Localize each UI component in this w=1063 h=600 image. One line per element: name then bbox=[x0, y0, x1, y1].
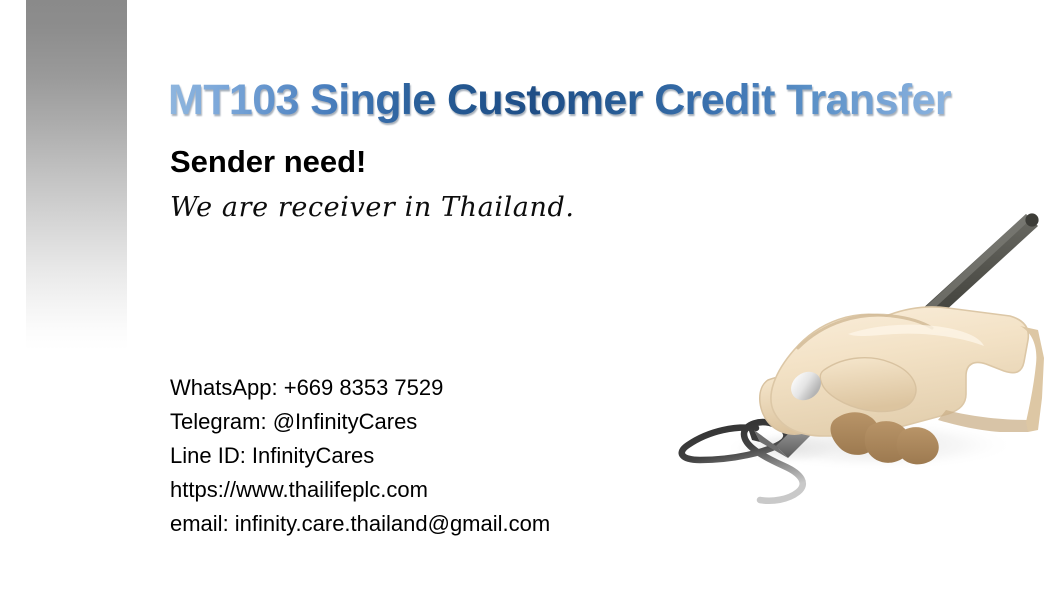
contact-line-email[interactable]: email: infinity.care.thailand@gmail.com bbox=[170, 507, 550, 541]
script-subtitle-text: We are receiver in Thailand. bbox=[170, 192, 575, 223]
contact-line-whatsapp: WhatsApp: +669 8353 7529 bbox=[170, 371, 550, 405]
headline-text: Sender need! bbox=[170, 144, 366, 180]
page-title: MT103 Single Customer Credit Transfer bbox=[168, 78, 951, 123]
contact-line-telegram: Telegram: @InfinityCares bbox=[170, 405, 550, 439]
pen-cap-top bbox=[1025, 213, 1038, 226]
contact-line-lineid: Line ID: InfinityCares bbox=[170, 439, 550, 473]
slide-canvas: MT103 Single Customer Credit Transfer Se… bbox=[0, 0, 1063, 600]
contact-line-website[interactable]: https://www.thailifeplc.com bbox=[170, 473, 550, 507]
left-gradient-bar bbox=[26, 0, 127, 350]
hand-writing-illustration bbox=[648, 198, 1050, 528]
contact-info-block: WhatsApp: +669 8353 7529 Telegram: @Infi… bbox=[170, 371, 550, 541]
